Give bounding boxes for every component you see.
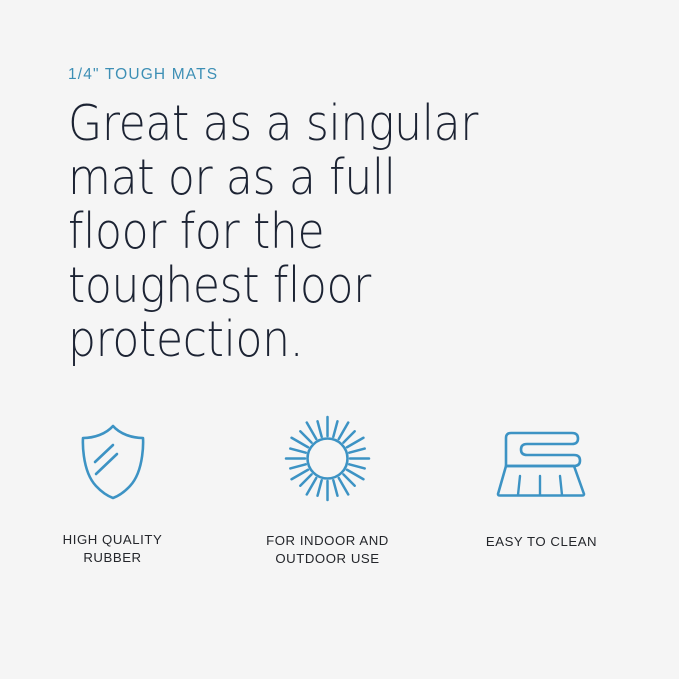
feature-caption: FOR INDOOR AND OUTDOOR USE <box>266 532 389 567</box>
brush-icon <box>494 430 589 498</box>
promo-card: 1/4" TOUGH MATS Great as a singular mat … <box>0 0 679 679</box>
shield-icon-wrap <box>78 408 148 513</box>
shield-icon <box>78 422 148 500</box>
feature-caption: EASY TO CLEAN <box>486 533 597 551</box>
sun-icon <box>280 411 375 506</box>
feature-caption-line: FOR INDOOR AND <box>266 532 389 550</box>
sun-icon-wrap <box>280 408 375 513</box>
feature-caption-line: OUTDOOR USE <box>266 550 389 568</box>
feature-list: HIGH QUALITY RUBBER <box>0 408 679 567</box>
feature-item-indoor-outdoor: FOR INDOOR AND OUTDOOR USE <box>225 408 430 567</box>
eyebrow-label: 1/4" TOUGH MATS <box>68 66 608 84</box>
brush-icon-wrap <box>494 408 589 513</box>
feature-caption-line: HIGH QUALITY <box>63 531 163 549</box>
feature-caption-line: RUBBER <box>63 549 163 567</box>
feature-caption: HIGH QUALITY RUBBER <box>63 531 163 566</box>
feature-item-easy-to-clean: EASY TO CLEAN <box>439 408 644 551</box>
page-title: Great as a singular mat or as a full flo… <box>68 97 491 367</box>
hero-text-block: 1/4" TOUGH MATS Great as a singular mat … <box>68 66 608 367</box>
feature-item-high-quality-rubber: HIGH QUALITY RUBBER <box>0 408 225 566</box>
feature-caption-line: EASY TO CLEAN <box>486 533 597 551</box>
